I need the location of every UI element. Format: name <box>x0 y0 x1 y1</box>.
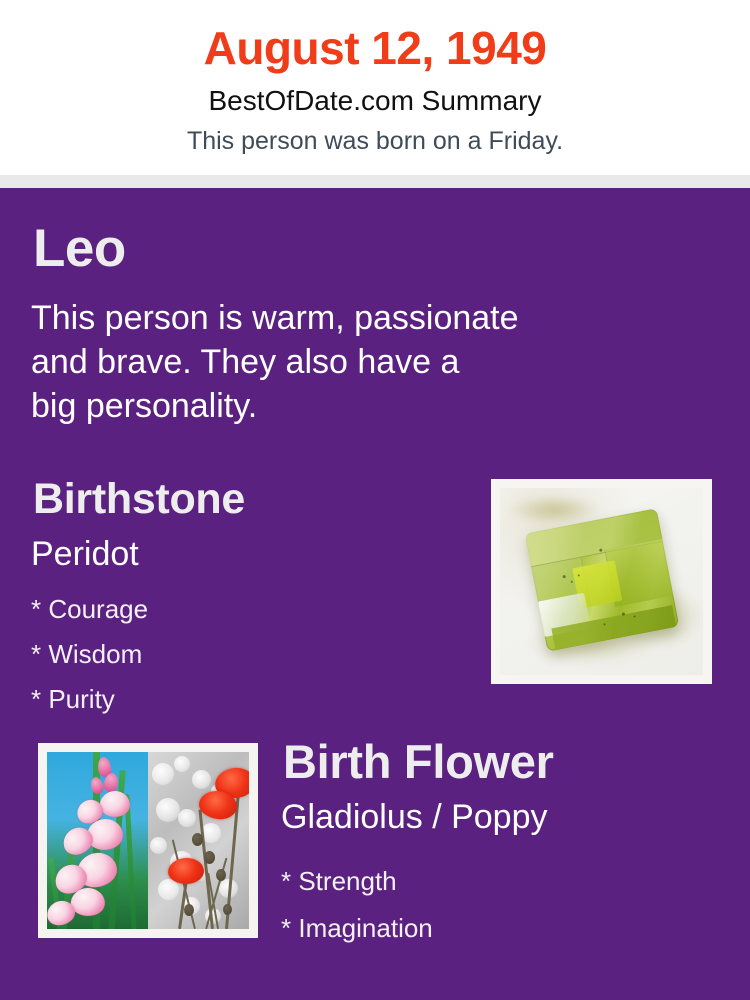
divider <box>0 175 750 188</box>
bokeh-highlight <box>152 763 174 785</box>
zodiac-sign-name: Leo <box>33 222 126 275</box>
zodiac-description: This person is warm, passionate and brav… <box>31 296 691 428</box>
gladiolus-photo-half <box>47 752 148 929</box>
birthstone-heading: Birthstone <box>33 478 245 521</box>
site-name: BestOfDate.com Summary <box>0 86 750 115</box>
bokeh-highlight <box>174 756 190 772</box>
list-item: * Purity <box>31 677 431 722</box>
flower-bud <box>90 776 106 795</box>
bokeh-highlight <box>150 837 167 854</box>
zodiac-description-line: and brave. They also have a <box>31 340 691 384</box>
zodiac-description-line: This person is warm, passionate <box>31 296 691 340</box>
zodiac-description-line: big personality. <box>31 384 691 428</box>
crystal-inclusion <box>562 574 566 578</box>
bokeh-highlight <box>158 879 179 900</box>
poppy-photo-half <box>148 752 249 929</box>
crystal-inclusion <box>621 612 625 616</box>
list-item: * Courage <box>31 587 431 632</box>
bokeh-highlight <box>192 770 211 789</box>
list-item: * Strength <box>281 858 711 905</box>
peridot-crystal <box>524 508 678 651</box>
list-item: * Imagination <box>281 905 711 952</box>
birthstone-image <box>491 479 712 684</box>
birth-flower-name: Gladiolus / Poppy <box>281 800 548 834</box>
birthstone-name: Peridot <box>31 537 139 571</box>
bokeh-highlight <box>178 809 196 827</box>
plant-stem <box>124 794 136 929</box>
page-title-date: August 12, 1949 <box>0 24 750 72</box>
crystal-inclusion <box>570 580 572 582</box>
summary-card: August 12, 1949 BestOfDate.com Summary T… <box>0 0 750 1000</box>
poppy-bud <box>216 869 226 881</box>
header: August 12, 1949 BestOfDate.com Summary T… <box>0 0 750 175</box>
bokeh-highlight <box>156 798 180 822</box>
birthstone-traits-list: * Courage * Wisdom * Purity <box>31 587 431 722</box>
list-item: * Wisdom <box>31 632 431 677</box>
crystal-inclusion <box>577 574 579 576</box>
crystal-inclusion <box>598 548 602 552</box>
birth-flower-image <box>38 743 258 938</box>
peridot-gemstone-photo <box>500 488 703 675</box>
birth-flower-traits-list: * Strength * Imagination <box>281 858 711 952</box>
gladiolus-and-poppy-photo <box>47 752 249 929</box>
crystal-inclusion <box>633 615 635 617</box>
birth-flower-heading: Birth Flower <box>283 738 554 785</box>
poppy-bud <box>223 904 232 915</box>
crystal-inclusion <box>603 623 605 625</box>
birth-day-note: This person was born on a Friday. <box>0 128 750 154</box>
poppy-bud <box>204 851 215 864</box>
